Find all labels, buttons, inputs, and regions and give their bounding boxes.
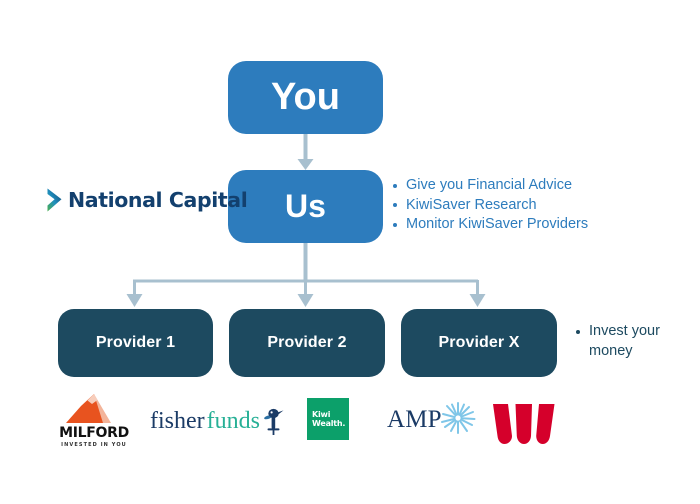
westpac-w-icon [491,403,557,445]
provider-services-list: Invest your money [575,321,693,361]
national-capital-wordmark: National Capital [68,188,247,212]
kiwi-wealth-line-one: Kiwi [312,410,345,419]
arrow-you-to-us [298,134,314,170]
kiwi-wealth-line-two: Wealth. [312,419,345,428]
us-services-list: Give you Financial Advice KiwiSaver Rese… [392,176,588,235]
amp-wordmark: AMP [387,407,442,433]
provider-logo-strip: MILFORD INVESTED IN YOU fisher funds Kiw… [0,393,700,455]
provider-service-item: Invest your money [575,321,693,361]
fisher-funds-logo: fisher funds [150,406,284,434]
node-you[interactable]: You [228,61,383,134]
us-service-item: KiwiSaver Research [392,196,588,216]
amp-logo: AMP [387,405,476,435]
kiwisaver-advice-flow-diagram: You Us Provider 1 Provider 2 Provider X … [0,0,700,504]
node-us-label: Us [285,189,326,224]
node-provider-3[interactable]: Provider X [401,309,557,377]
milford-tagline: INVESTED IN YOU [61,441,127,449]
node-you-label: You [271,77,340,119]
milford-logo: MILFORD INVESTED IN YOU [56,393,132,449]
starburst-icon [440,401,476,435]
kiwi-wealth-logo: Kiwi Wealth. [307,398,349,440]
mountain-icon [63,393,125,425]
node-provider-2[interactable]: Provider 2 [229,309,385,377]
kingfisher-bird-icon [262,406,284,436]
node-provider-1[interactable]: Provider 1 [58,309,213,377]
us-service-item: Monitor KiwiSaver Providers [392,215,588,235]
arrow-us-to-providers-trunk [127,243,486,307]
milford-wordmark: MILFORD [59,426,129,441]
fisher-funds-word-two: funds [207,408,260,434]
green-square-icon: Kiwi Wealth. [307,398,349,440]
node-provider-3-label: Provider X [438,334,519,352]
national-capital-logo: National Capital [46,188,247,212]
westpac-logo [491,403,557,445]
us-service-item: Give you Financial Advice [392,176,588,196]
node-provider-1-label: Provider 1 [96,334,175,352]
node-us[interactable]: Us [228,170,383,243]
node-provider-2-label: Provider 2 [267,334,346,352]
chevron-gradient-icon [46,188,63,212]
fisher-funds-word-one: fisher [150,408,205,434]
